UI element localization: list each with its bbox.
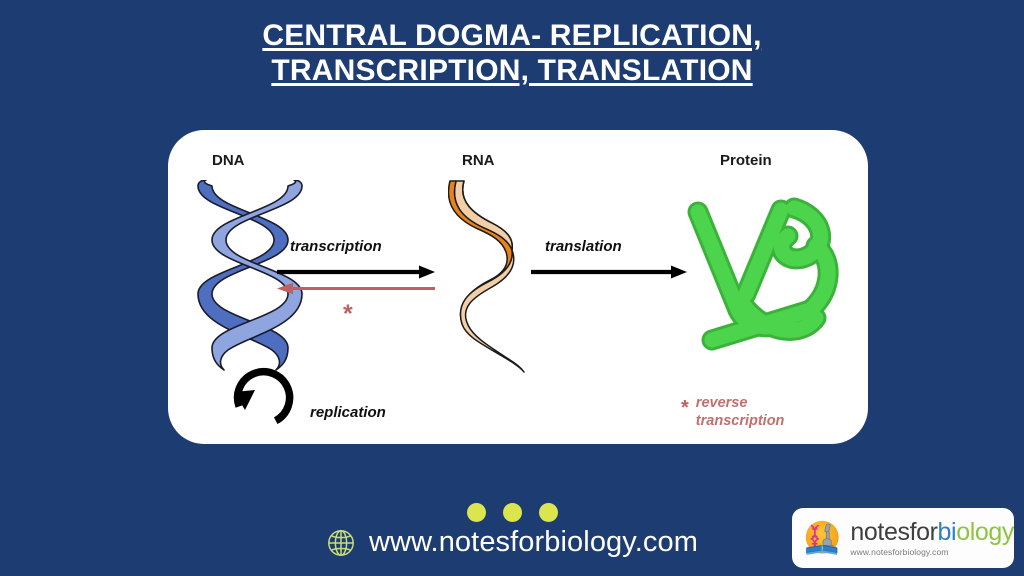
notesforbiology-logo[interactable]: notesforbiology www.notesforbiology.com xyxy=(792,508,1014,568)
legend-line-2: transcription xyxy=(696,413,785,429)
label-transcription: transcription xyxy=(290,238,382,255)
legend-asterisk-icon: * xyxy=(681,398,689,418)
page-title: CENTRAL DOGMA- REPLICATION, TRANSCRIPTIO… xyxy=(0,18,1024,89)
label-replication: replication xyxy=(310,404,386,421)
logo-wordmark: notesforbiology www.notesforbiology.com xyxy=(850,520,1014,557)
logo-subtitle: www.notesforbiology.com xyxy=(850,548,1014,557)
globe-icon xyxy=(326,528,356,558)
label-rna: RNA xyxy=(462,152,495,169)
translation-arrow-right-icon xyxy=(530,265,688,279)
reverse-transcription-legend: * reverse transcription xyxy=(681,394,784,430)
protein-structure-icon xyxy=(676,182,846,362)
reverse-transcription-asterisk: * xyxy=(343,302,353,327)
label-translation: translation xyxy=(545,238,622,255)
diagram-card: DNA RNA Protein transcription * xyxy=(168,130,868,444)
slide-canvas: CENTRAL DOGMA- REPLICATION, TRANSCRIPTIO… xyxy=(0,0,1024,576)
label-dna: DNA xyxy=(212,152,245,169)
reverse-transcription-arrow-left-icon xyxy=(276,282,436,295)
title-line-1: CENTRAL DOGMA- REPLICATION, xyxy=(262,18,761,53)
logo-word-part-2: bi xyxy=(938,518,957,546)
replication-circular-arrow-icon xyxy=(225,358,317,438)
label-protein: Protein xyxy=(720,152,772,169)
dot-2 xyxy=(503,503,522,522)
microscope-dna-book-icon xyxy=(800,514,844,562)
transcription-arrow-right-icon xyxy=(276,265,436,279)
logo-word-part-3: ology xyxy=(956,518,1014,546)
legend-line-1: reverse xyxy=(696,395,748,411)
dot-1 xyxy=(467,503,486,522)
rna-strand-icon xyxy=(448,178,534,374)
logo-word-part-1: notesfor xyxy=(850,518,937,546)
title-line-2: TRANSCRIPTION, TRANSLATION xyxy=(271,53,752,88)
dot-3 xyxy=(539,503,558,522)
footer-url-text[interactable]: www.notesforbiology.com xyxy=(369,526,698,559)
